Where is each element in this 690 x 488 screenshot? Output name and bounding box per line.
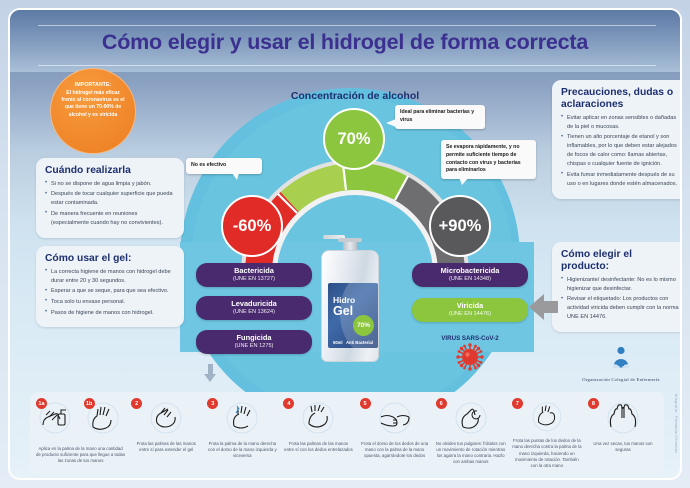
step-item: 4 Frota las palmas de las manos entre sí… [280, 397, 356, 469]
panel-when-list: Si no se dispone de agua limpia y jabón.… [45, 180, 175, 228]
bottle-brand-line2: Gel [333, 304, 353, 318]
panel-precautions: Precauciones, dudas o aclaraciones Evita… [552, 80, 682, 199]
certification-pill-microbactericida: Microbactericida (UNE EN 14348) [412, 263, 528, 287]
list-item: Tienen un alto porcentaje de etanol y so… [561, 133, 679, 169]
connector-arrow-tail [544, 301, 558, 313]
organization-logo: Organización Colegial de Enfermería [566, 346, 676, 382]
coronavirus-icon [456, 343, 484, 371]
pill-name: Bactericida [202, 267, 306, 276]
panel-when-title: Cuándo realizarla [45, 165, 175, 177]
list-item: Evitar aplicar en zonas sensibles o daña… [561, 114, 679, 132]
step-item: 7 Frota las puntas de los dedos de la ma… [509, 397, 585, 469]
pill-code: (UNE EN 13727) [202, 276, 306, 283]
panel-how-title: Cómo usar el gel: [45, 253, 175, 265]
pill-name: Levaduricida [202, 300, 306, 309]
list-item: Esperar a que se seque, para que sea efe… [45, 287, 175, 296]
callout-ideal: Ideal para eliminar bacterias y virus [395, 105, 485, 129]
step-text: Frota las puntas de los dedos de la mano… [509, 438, 585, 469]
callout-evaporates: Se evapora rápidamente, y no permite suf… [441, 140, 536, 179]
step-number: 1a [36, 398, 47, 409]
callout-not-effective: No es efectivo [186, 158, 262, 174]
bottle-label: Hidro Gel 70% 50ml Anti Bacterial [328, 283, 378, 348]
thumb-rotation-icon [449, 399, 493, 439]
bottle-claim: Anti Bacterial [346, 340, 373, 345]
connector-arrow-head [529, 294, 544, 320]
organization-name: Organización Colegial de Enfermería [566, 377, 676, 382]
header-divider-top [38, 25, 656, 26]
list-item: Toca solo tu envase personal. [45, 298, 175, 307]
bottle-percent-badge: 70% [353, 315, 374, 336]
list-item: Pasos de higiene de manos con hidrogel. [45, 309, 175, 318]
gauge-value-low: -60% [221, 195, 283, 257]
nurse-logo-icon [608, 346, 634, 370]
certification-pill-levaduricida: Levaduricida (UNE EN 13624) [196, 296, 312, 320]
step-number: 6 [436, 398, 447, 409]
pill-name: Fungicida [202, 334, 306, 343]
step-number: 1b [84, 398, 95, 409]
step-item: 6 No olvides tus pulgares: frótalos con … [433, 397, 509, 469]
important-badge: IMPORTANTE: El hidrogel más eficaz frent… [50, 68, 136, 154]
step-number: 2 [131, 398, 142, 409]
back-of-hand-icon [220, 399, 264, 439]
credit-text: Infografía · Fernanda Cifuentes [674, 394, 678, 453]
panel-choose-list: Higienizante/ desinfectante: No es lo mi… [561, 276, 679, 323]
step-text: Frota las palmas de las manos entre sí p… [128, 441, 204, 453]
certification-pill-fungicida: Fungicida (UNE EN 1275) [196, 330, 312, 354]
finger-grip-icon [373, 399, 417, 439]
step-text: No olvides tus pulgares: frótalos con un… [433, 441, 509, 466]
panel-how-to-choose: Cómo elegir el producto: Higienizante/ d… [552, 242, 682, 332]
step-item: 3 Frota la palma de la mano derecha con … [204, 397, 280, 469]
poster-frame: Cómo elegir y usar el hidrogel de forma … [8, 8, 682, 480]
virus-label: VIRUS SARS-CoV-2 [412, 335, 528, 342]
infographic-poster: Cómo elegir y usar el hidrogel de forma … [0, 0, 690, 488]
palms-rub-icon [144, 399, 188, 439]
step-item: 1a 1b [33, 397, 128, 469]
interlaced-fingers-icon [296, 399, 340, 439]
list-item: Higienizante/ desinfectante: No es lo mi… [561, 276, 679, 294]
panel-how-list: La correcta higiene de manos con hidroge… [45, 268, 175, 318]
pill-name: Viricida [418, 302, 522, 311]
pill-code: (UNE EN 1275) [202, 343, 306, 350]
bottle-volume: 50ml [333, 340, 343, 345]
panel-choose-title: Cómo elegir el producto: [561, 249, 679, 273]
pill-name: Microbactericida [418, 267, 522, 276]
step-text: Frota la palma de la mano derecha con el… [204, 441, 280, 459]
step-text: Una vez secas, tus manos son seguras [585, 441, 661, 453]
panel-precautions-title: Precauciones, dudas o aclaraciones [561, 87, 679, 111]
list-item: Evita fumar inmediatamente después de su… [561, 171, 679, 189]
step-number: 7 [512, 398, 523, 409]
step-text: Aplica en la palma de la mano una cantid… [33, 446, 128, 464]
step-number: 4 [283, 398, 294, 409]
step-text: Frota las palmas de las manos entre sí c… [280, 441, 356, 453]
list-item: La correcta higiene de manos con hidroge… [45, 268, 175, 286]
gauge-value-ideal: 70% [323, 108, 385, 170]
list-item: Si no se dispone de agua limpia y jabón. [45, 180, 175, 189]
page-title: Cómo elegir y usar el hidrogel de forma … [10, 30, 680, 55]
important-badge-text: El hidrogel más eficaz frente al coronav… [61, 90, 124, 118]
list-item: Revisar el etiquetado: Los productos con… [561, 295, 679, 322]
gauge-heading: Concentración de alcohol [240, 90, 470, 102]
step-number: 8 [588, 398, 599, 409]
list-item: Después de tocar cualquier superficie qu… [45, 190, 175, 208]
handwashing-steps-strip: 1a 1b [30, 392, 664, 474]
step-text: Frota el dorso de los dedos de una mano … [357, 441, 433, 459]
poster-header: Cómo elegir y usar el hidrogel de forma … [10, 10, 680, 72]
fingertips-rub-icon [525, 399, 569, 436]
steps-arrow-icon [204, 374, 216, 382]
pill-code: (UNE EN 13624) [202, 309, 306, 316]
gauge-value-high: +90% [429, 195, 491, 257]
hidrogel-bottle: Hidro Gel 70% 50ml Anti Bacterial [319, 238, 381, 363]
panel-precautions-list: Evitar aplicar en zonas sensibles o daña… [561, 114, 679, 189]
header-divider-bottom [38, 65, 656, 66]
panel-when-to-use: Cuándo realizarla Si no se dispone de ag… [36, 158, 184, 238]
important-badge-heading: IMPORTANTE: [59, 82, 127, 90]
pill-code: (UNE EN 14348) [418, 276, 522, 283]
dry-hands-icon [601, 399, 645, 439]
step-number: 3 [207, 398, 218, 409]
list-item: De manera frecuente en reuniones (especi… [45, 210, 175, 228]
bottle-body: Hidro Gel 70% 50ml Anti Bacterial [321, 250, 379, 362]
pill-code: (UNE EN 14476) [418, 311, 522, 318]
panel-how-to-use: Cómo usar el gel: La correcta higiene de… [36, 246, 184, 327]
step-item: 8 Una vez secas, tus manos son seguras [585, 397, 661, 469]
step-item: 2 Frota las palmas de las manos entre sí… [128, 397, 204, 469]
step-item: 5 Frota el dorso de los dedos de una man… [357, 397, 433, 469]
step-number: 5 [360, 398, 371, 409]
certification-pill-bactericida: Bactericida (UNE EN 13727) [196, 263, 312, 287]
certification-pill-viricida: Viricida (UNE EN 14476) [412, 298, 528, 322]
